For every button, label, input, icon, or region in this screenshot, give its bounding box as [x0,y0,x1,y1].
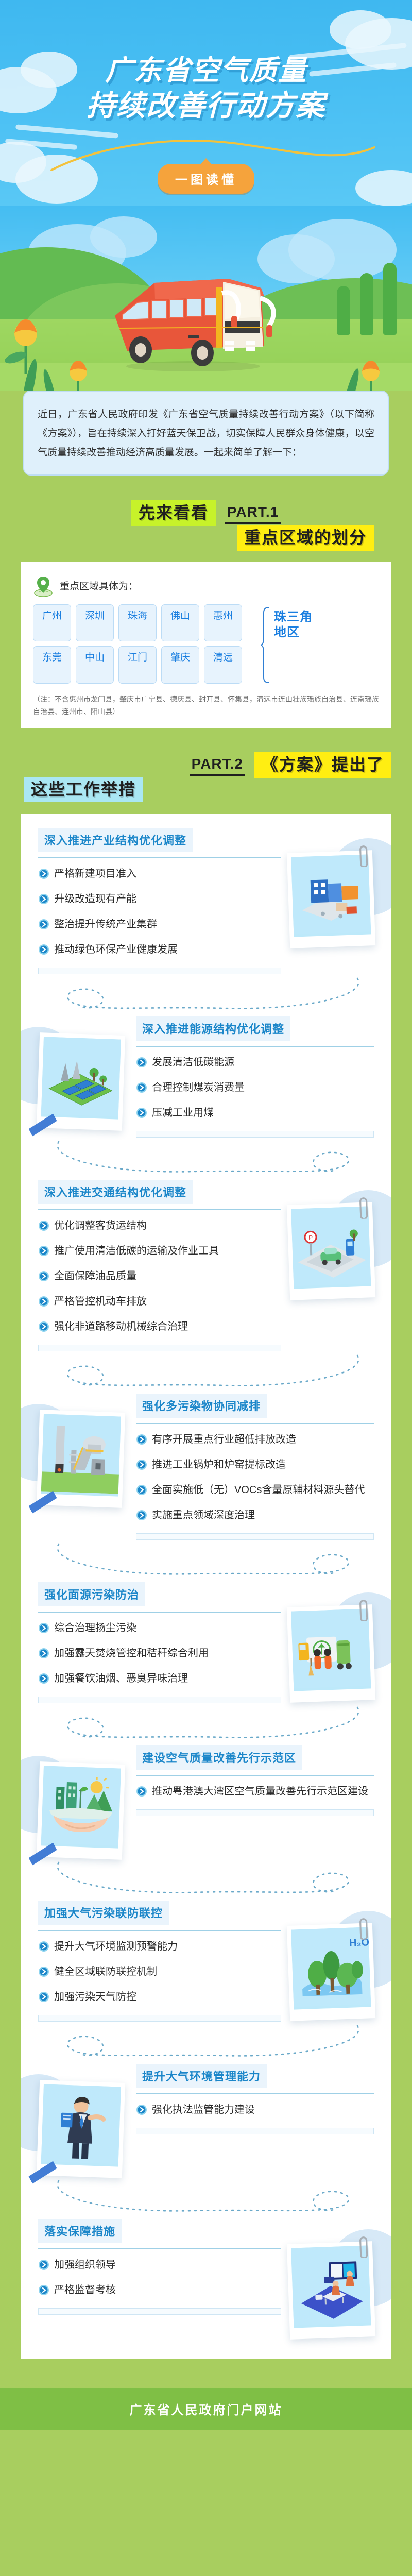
measure-item-label: 加强组织领导 [54,2258,116,2273]
measure-footer-bar [38,2015,281,2022]
measure-divider [38,1930,281,1931]
measure-photo: H₂O [288,1924,374,2020]
polaroid-frame [37,1032,125,1131]
measure-block-inner: 建设空气质量改善先行示范区 推动粤港澳大湾区空气质量改善先行示范区建设 [38,1745,374,1858]
chevron-right-bullet-icon [38,1321,49,1337]
chevron-right-bullet-icon [38,2284,49,2300]
measure-item: 强化执法监管能力建设 [136,2103,374,2120]
measure-block: 深入推进产业结构优化调整 严格新建项目准入 升级改造现有产能 整治提升传统产业集… [21,828,391,1013]
chevron-right-bullet-icon [136,1459,147,1470]
city-tag[interactable]: 惠州 [204,604,242,642]
measure-item-list: 发展清洁低碳能源 合理控制煤炭消费量 压减工业用煤 [136,1055,374,1123]
measure-item-list: 有序开展重点行业超低排放改造 推进工业锅炉和炉窑提标改造 全面实施低（无）VOC… [136,1432,374,1526]
measure-text-column: 深入推进交通结构优化调整 优化调整客货运结构 推广使用清洁低碳的运输及作业工具 … [38,1180,281,1351]
chevron-right-bullet-icon [38,1991,49,2007]
polaroid-frame [287,1604,375,1703]
zone-label-line1: 珠三角 [274,609,313,625]
measure-item-label: 严格管控机动车排放 [54,1294,147,1309]
measure-item-label: 强化非道路移动机械综合治理 [54,1319,188,1334]
measure-item: 加强污染天气防控 [38,1990,281,2007]
measure-text-column: 建设空气质量改善先行示范区 推动粤港澳大湾区空气质量改善先行示范区建设 [131,1745,374,1816]
measure-photo: P [288,1204,374,1299]
chevron-right-bullet-icon [38,1941,49,1952]
read-badge: 一图读懂 [158,164,254,194]
city-tag[interactable]: 佛山 [161,604,199,642]
measure-item-list: 提升大气环境监测预警能力 健全区域联防联控机制 加强污染天气防控 [38,1939,281,2007]
chevron-right-bullet-icon [38,893,49,909]
dotted-connector [38,976,374,1013]
measure-item: 严格新建项目准入 [38,867,281,884]
measure-item-label: 加强餐饮油烟、恶臭异味治理 [54,1671,188,1686]
measure-item: 合理控制煤炭消费量 [136,1080,374,1098]
dotted-connector [38,1542,374,1579]
measure-item: 压减工业用煤 [136,1106,374,1123]
polaroid-frame [37,1410,125,1508]
measure-block-inner: 落实保障措施 加强组织领导 严格监督考核 [38,2219,374,2338]
part1-line2: 重点区域的划分 [237,525,374,551]
paperclip-icon [357,1195,370,1218]
measure-block-inner: 强化多污染物协同减排 有序开展重点行业超低排放改造 推进工业锅炉和炉窑提标改造 … [38,1394,374,1540]
measure-item: 严格监督考核 [38,2283,281,2300]
bus-icon [106,255,276,374]
measure-item-list: 加强组织领导 严格监督考核 [38,2258,281,2300]
chevron-right-bullet-icon [38,893,49,905]
dotted-connector [38,1353,374,1391]
city-tag[interactable]: 广州 [33,604,71,642]
measure-item: 推广使用清洁低碳的运输及作业工具 [38,1244,281,1261]
city-tag-list: 广州深圳珠海佛山惠州东莞中山江门肇庆清远 [33,604,254,684]
key-region-note: （注：不含惠州市龙门县，肇庆市广宁县、德庆县、封开县、怀集县，清远市连山壮族瑶族… [33,693,379,718]
bottom-spacer [0,2359,412,2388]
paperclip-icon [357,1598,370,1621]
tree-decoration [337,286,350,335]
part1-number: PART.1 [225,504,281,524]
measure-item-label: 推动粤港澳大湾区空气质量改善先行示范区建设 [152,1784,368,1799]
tree-decoration [383,263,397,335]
measure-block: 强化面源污染防治 综合治理扬尘污染 加强露天焚烧管控和秸秆综合利用 加强餐饮油烟… [21,1582,391,1742]
measure-title: 深入推进能源结构优化调整 [136,1016,290,1041]
measure-divider [38,1612,281,1613]
measure-photo [38,1411,124,1506]
chevron-right-bullet-icon [38,1220,49,1236]
measure-item-label: 全面保障油品质量 [54,1269,136,1284]
chevron-right-bullet-icon [38,2259,49,2275]
dotted-connector [38,1860,374,1897]
measure-item: 发展清洁低碳能源 [136,1055,374,1073]
measure-item-label: 合理控制煤炭消费量 [152,1080,245,1095]
measure-item: 加强餐饮油烟、恶臭异味治理 [38,1671,281,1689]
chevron-right-bullet-icon [38,1673,49,1684]
measure-block-inner: 强化面源污染防治 综合治理扬尘污染 加强露天焚烧管控和秸秆综合利用 加强餐饮油烟… [38,1582,374,1703]
city-tag[interactable]: 中山 [76,646,114,684]
key-region-card: 重点区域具体为： 广州深圳珠海佛山惠州东莞中山江门肇庆清远 珠三角 地区 （注：… [21,562,391,728]
measure-footer-bar [38,1345,281,1351]
infographic-page: 广东省空气质量 持续改善行动方案 一图读懂 [0,0,412,2430]
chevron-right-bullet-icon [136,2104,147,2120]
chevron-right-bullet-icon [38,1245,49,1257]
paperclip-icon [357,1916,370,1939]
measure-text-column: 深入推进能源结构优化调整 发展清洁低碳能源 合理控制煤炭消费量 压减工业用煤 [131,1016,374,1138]
measure-title: 建设空气质量改善先行示范区 [136,1745,302,1770]
measure-item-label: 推广使用清洁低碳的运输及作业工具 [54,1244,219,1259]
chevron-right-bullet-icon [38,944,49,955]
key-region-header: 重点区域具体为： [33,574,379,597]
measure-footer-bar [136,1533,374,1540]
measure-item: 健全区域联防联控机制 [38,1964,281,1982]
part2-heading: PART.2 《方案》提出了 这些工作举措 [0,752,412,803]
chevron-right-bullet-icon [136,1082,147,1093]
paperclip-icon [357,843,370,867]
measure-title: 深入推进产业结构优化调整 [38,828,193,852]
measure-divider [136,1775,374,1776]
measure-divider [136,1046,374,1047]
measure-item: 实施重点领域深度治理 [136,1508,374,1526]
chevron-right-bullet-icon [38,919,49,935]
measure-item-list: 综合治理扬尘污染 加强露天焚烧管控和秸秆综合利用 加强餐饮油烟、恶臭异味治理 [38,1621,281,1689]
content-body: 近日，广东省人民政府印发《广东省空气质量持续改善行动方案》（以下简称《方案》），… [0,391,412,2388]
footer-source: 广东省人民政府门户网站 [0,2388,412,2430]
measure-title: 落实保障措施 [38,2219,122,2243]
chevron-right-bullet-icon [136,1786,147,1797]
paperclip-icon [357,2234,370,2258]
measure-item: 强化非道路移动机械综合治理 [38,1319,281,1337]
chevron-right-bullet-icon [136,1786,147,1802]
chevron-right-bullet-icon [38,1270,49,1282]
chevron-right-bullet-icon [38,1296,49,1312]
chevron-right-bullet-icon [38,1648,49,1659]
polaroid-frame: P [287,1202,375,1300]
green-city-hands-icon [41,1766,121,1849]
measure-item-label: 提升大气环境监测预警能力 [54,1939,178,1954]
chevron-right-bullet-icon [38,2284,49,2296]
measure-block: 强化多污染物协同减排 有序开展重点行业超低排放改造 推进工业锅炉和炉窑提标改造 … [21,1394,391,1579]
chevron-right-bullet-icon [38,1941,49,1957]
city-tag-group: 广州深圳珠海佛山惠州东莞中山江门肇庆清远 珠三角 地区 [33,604,379,684]
intro-section: 近日，广东省人民政府印发《广东省空气质量持续改善行动方案》（以下简称《方案》），… [0,391,412,476]
measure-item: 推动粤港澳大湾区空气质量改善先行示范区建设 [136,1784,374,1802]
cloud-streak [15,124,118,138]
measure-block-inner: 深入推进能源结构优化调整 发展清洁低碳能源 合理控制煤炭消费量 压减工业用煤 [38,1016,374,1138]
zone-label-line2: 地区 [274,625,313,640]
chevron-right-bullet-icon [38,1648,49,1664]
measure-text-column: 落实保障措施 加强组织领导 严格监督考核 [38,2219,281,2315]
measure-photo [38,1034,124,1129]
measure-item-label: 升级改造现有产能 [54,892,136,907]
measure-block: 加强大气污染联防联控 提升大气环境监测预警能力 健全区域联防联控机制 加强污染天… [21,1901,391,2061]
intro-card: 近日，广东省人民政府印发《广东省空气质量持续改善行动方案》（以下简称《方案》），… [23,391,389,476]
measure-text-column: 提升大气环境管理能力 强化执法监管能力建设 [131,2064,374,2134]
measure-title: 加强大气污染联防联控 [38,1901,169,1925]
map-pin-icon [33,574,54,597]
measure-photo [288,852,374,947]
measure-footer-bar [38,968,281,974]
chevron-right-bullet-icon [38,1622,49,1638]
measure-item-list: 强化执法监管能力建设 [136,2103,374,2120]
brace-icon [261,606,272,684]
measure-item: 提升大气环境监测预警能力 [38,1939,281,1957]
measure-item: 加强组织领导 [38,2258,281,2275]
measure-item: 全面保障油品质量 [38,1269,281,1286]
measure-block-inner: 深入推进交通结构优化调整 优化调整客货运结构 推广使用清洁低碳的运输及作业工具 … [38,1180,374,1351]
chevron-right-bullet-icon [136,1484,147,1500]
measure-title: 强化多污染物协同减排 [136,1394,267,1418]
measure-item-list: 严格新建项目准入 升级改造现有产能 整治提升传统产业集群 推动绿色环保产业健康发… [38,867,281,960]
chevron-right-bullet-icon [38,919,49,930]
chevron-right-bullet-icon [136,1510,147,1526]
chevron-right-bullet-icon [136,1107,147,1123]
measures-card: 深入推进产业结构优化调整 严格新建项目准入 升级改造现有产能 整治提升传统产业集… [21,814,391,2359]
measure-item: 加强露天焚烧管控和秸秆综合利用 [38,1646,281,1664]
measure-item-label: 强化执法监管能力建设 [152,2103,255,2117]
city-tag[interactable]: 清远 [204,646,242,684]
measure-item-label: 严格监督考核 [54,2283,116,2298]
measure-item: 有序开展重点行业超低排放改造 [136,1432,374,1450]
part1-heading: 先来看看 PART.1 重点区域的划分 [0,500,412,551]
polaroid-frame [287,2241,375,2340]
measure-item-label: 加强污染天气防控 [54,1990,136,2005]
hero-title: 广东省空气质量 持续改善行动方案 [0,54,412,123]
chevron-right-bullet-icon [136,1459,147,1475]
hero-title-line1: 广东省空气质量 [105,55,307,86]
measure-item: 升级改造现有产能 [38,892,281,909]
tree-decoration [360,273,373,335]
city-tag[interactable]: 东莞 [33,646,71,684]
measure-block-inner: 提升大气环境管理能力 强化执法监管能力建设 [38,2064,374,2177]
measure-item-list: 推动粤港澳大湾区空气质量改善先行示范区建设 [136,1784,374,1802]
dotted-connector [38,2024,374,2061]
dotted-connector [38,1140,374,1177]
dotted-connector [38,2179,374,2216]
measure-photo [288,1606,374,1701]
cloud-decoration [330,10,391,49]
city-tag[interactable]: 江门 [118,646,157,684]
measure-item: 综合治理扬尘污染 [38,1621,281,1638]
measure-block-inner: 深入推进产业结构优化调整 严格新建项目准入 升级改造现有产能 整治提升传统产业集… [38,828,374,974]
measure-footer-bar [136,1131,374,1138]
chevron-right-bullet-icon [136,1057,147,1073]
measure-item: 优化调整客货运结构 [38,1218,281,1236]
measure-divider [38,2248,281,2249]
measure-item: 严格管控机动车排放 [38,1294,281,1312]
measure-item-label: 健全区域联防联控机制 [54,1964,157,1979]
measure-item-label: 实施重点领域深度治理 [152,1508,255,1523]
chevron-right-bullet-icon [38,1966,49,1977]
measure-photo [38,1763,124,1858]
part2-number: PART.2 [190,756,245,776]
measure-item-label: 推动绿色环保产业健康发展 [54,942,178,957]
measure-item-label: 推进工业锅炉和炉窑提标改造 [152,1458,286,1472]
chevron-right-bullet-icon [136,2104,147,2115]
measure-item-list: 优化调整客货运结构 推广使用清洁低碳的运输及作业工具 全面保障油品质量 严格管控… [38,1218,281,1337]
chevron-right-bullet-icon [38,1622,49,1634]
tape-decoration [28,1491,58,1514]
solar-power-icon [41,1037,121,1120]
chevron-right-bullet-icon [38,1673,49,1689]
measure-text-column: 深入推进产业结构优化调整 严格新建项目准入 升级改造现有产能 整治提升传统产业集… [38,828,281,974]
chevron-right-bullet-icon [136,1057,147,1068]
chevron-right-bullet-icon [136,1107,147,1118]
polaroid-frame [37,1761,125,1860]
measure-item-label: 发展清洁低碳能源 [152,1055,234,1070]
measure-item-label: 优化调整客货运结构 [54,1218,147,1233]
city-tag[interactable]: 深圳 [76,604,114,642]
chevron-right-bullet-icon [38,1321,49,1332]
measure-item: 整治提升传统产业集群 [38,917,281,935]
svg-text:P: P [308,1234,313,1242]
tape-decoration [28,1843,58,1866]
measure-divider [136,2093,374,2094]
measure-item: 全面实施低（无）VOCs含量原辅材料源头替代 [136,1483,374,1500]
chevron-right-bullet-icon [38,1991,49,2003]
bus-scene-illustration [0,206,412,412]
measure-block-list: 深入推进产业结构优化调整 严格新建项目准入 升级改造现有产能 整治提升传统产业集… [21,814,391,2359]
measure-block: 深入推进交通结构优化调整 优化调整客货运结构 推广使用清洁低碳的运输及作业工具 … [21,1180,391,1391]
chevron-right-bullet-icon [38,2259,49,2270]
polaroid-frame [287,850,375,948]
city-tag[interactable]: 肇庆 [161,646,199,684]
chevron-right-bullet-icon [38,868,49,879]
part2-line1: 《方案》提出了 [254,752,391,778]
measure-divider [136,1423,374,1424]
hero-banner: 广东省空气质量 持续改善行动方案 一图读懂 [0,0,412,206]
polaroid-frame [37,2080,125,2178]
chevron-right-bullet-icon [38,944,49,960]
chevron-right-bullet-icon [38,1296,49,1307]
tape-decoration [28,1114,58,1137]
chevron-right-bullet-icon [136,1510,147,1521]
cloud-decoration [90,216,157,258]
polaroid-frame: H₂O [287,1923,375,2021]
measure-item-label: 整治提升传统产业集群 [54,917,157,932]
part2-line2: 这些工作举措 [24,777,143,803]
measure-item-label: 压减工业用煤 [152,1106,214,1121]
measure-footer-bar [136,1809,374,1816]
measure-photo [38,2081,124,2177]
chevron-right-bullet-icon [38,868,49,884]
measure-item: 推动绿色环保产业健康发展 [38,942,281,960]
zone-label: 珠三角 地区 [274,604,313,684]
measure-item-label: 全面实施低（无）VOCs含量原辅材料源头替代 [152,1483,365,1498]
chevron-right-bullet-icon [38,1270,49,1286]
measure-item-label: 有序开展重点行业超低排放改造 [152,1432,296,1447]
hero-title-line2: 持续改善行动方案 [0,88,412,123]
tape-decoration [28,2161,58,2184]
measure-item-label: 加强露天焚烧管控和秸秆综合利用 [54,1646,209,1661]
measure-block: 提升大气环境管理能力 强化执法监管能力建设 [21,2064,391,2216]
flower-icon [5,313,51,375]
measure-text-column: 强化面源污染防治 综合治理扬尘污染 加强露天焚烧管控和秸秆综合利用 加强餐饮油烟… [38,1582,281,1703]
cloud-decoration [355,170,412,206]
measure-footer-bar [38,2308,281,2315]
chevron-right-bullet-icon [136,1484,147,1496]
measure-item: 推进工业锅炉和炉窑提标改造 [136,1458,374,1475]
measure-text-column: 加强大气污染联防联控 提升大气环境监测预警能力 健全区域联防联控机制 加强污染天… [38,1901,281,2022]
measure-item-label: 严格新建项目准入 [54,867,136,882]
chevron-right-bullet-icon [136,1082,147,1098]
chevron-right-bullet-icon [38,1966,49,1982]
measure-block-inner: 加强大气污染联防联控 提升大气环境监测预警能力 健全区域联防联控机制 加强污染天… [38,1901,374,2022]
measure-title: 强化面源污染防治 [38,1582,145,1606]
chevron-right-bullet-icon [136,1434,147,1450]
measure-block: 深入推进能源结构优化调整 发展清洁低碳能源 合理控制煤炭消费量 压减工业用煤 [21,1016,391,1177]
part1-line1: 先来看看 [131,500,216,526]
chevron-right-bullet-icon [38,1245,49,1261]
measure-divider [38,1209,281,1210]
measure-title: 提升大气环境管理能力 [136,2064,267,2088]
measure-item-label: 综合治理扬尘污染 [54,1621,136,1636]
measure-text-column: 强化多污染物协同减排 有序开展重点行业超低排放改造 推进工业锅炉和炉窑提标改造 … [131,1394,374,1540]
chevron-right-bullet-icon [136,1434,147,1445]
measure-divider [38,857,281,858]
measure-footer-bar [136,2128,374,2134]
measure-title: 深入推进交通结构优化调整 [38,1180,193,1204]
measure-block: 落实保障措施 加强组织领导 严格监督考核 [21,2219,391,2338]
dotted-connector [38,1705,374,1742]
industrial-chimney-icon [41,1414,121,1497]
chevron-right-bullet-icon [38,1220,49,1231]
measure-footer-bar [38,1697,281,1703]
measure-photo [288,2243,374,2338]
measure-block: 建设空气质量改善先行示范区 推动粤港澳大湾区空气质量改善先行示范区建设 [21,1745,391,1897]
city-tag[interactable]: 珠海 [118,604,157,642]
officer-presentation-icon [41,2084,121,2167]
key-region-label: 重点区域具体为： [60,579,138,592]
